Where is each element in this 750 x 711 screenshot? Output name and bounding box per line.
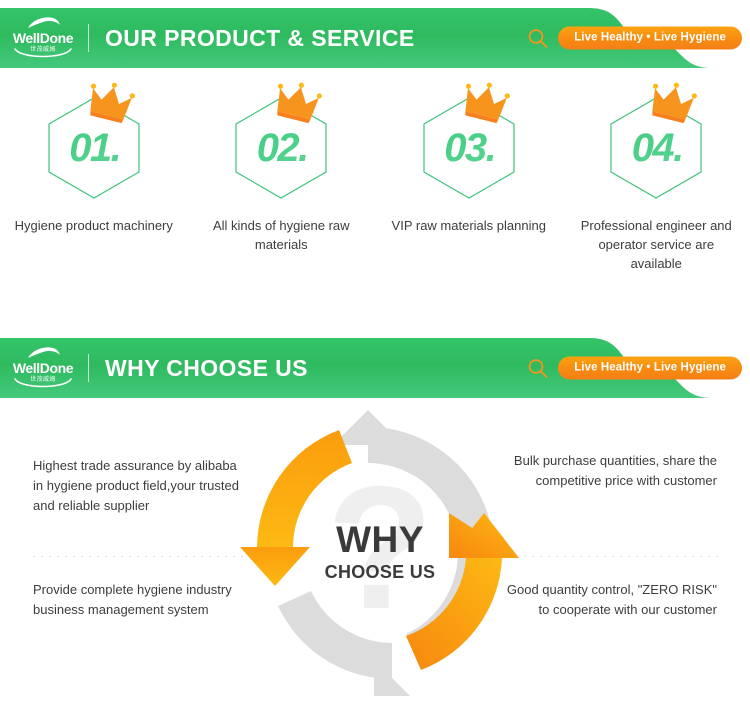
why-headline: WHY (336, 520, 424, 560)
swoosh-icon (27, 346, 61, 360)
swoosh-icon (27, 16, 61, 30)
section-header-why: WellDone 世茂威姆 WHY CHOOSE US Live Healthy… (0, 338, 750, 398)
header-divider (88, 24, 89, 52)
product-card[interactable]: 01. Hygiene product machinery (0, 82, 188, 273)
card-caption: VIP raw materials planning (392, 216, 546, 235)
reason-bottom-left: Provide complete hygiene industry busine… (33, 580, 246, 620)
hexagon-badge: 01. (38, 82, 150, 200)
crown-icon (86, 82, 136, 124)
brand-logo[interactable]: WellDone 世茂威姆 (10, 345, 76, 391)
hexagon-badge: 02. (225, 82, 337, 200)
divider-left (30, 556, 245, 557)
product-card-list: 01. Hygiene product machinery 02. (0, 82, 750, 273)
logo-wordmark: WellDone (13, 31, 73, 46)
section-header-product: WellDone 世茂威姆 OUR PRODUCT & SERVICE Live… (0, 8, 750, 68)
header-tagline-group: Live Healthy • Live Hygiene (527, 357, 742, 380)
tagline-badge: Live Healthy • Live Hygiene (558, 27, 742, 50)
product-card[interactable]: 02. All kinds of hygiene raw materials (188, 82, 376, 273)
section-title: OUR PRODUCT & SERVICE (105, 25, 415, 52)
card-caption: Hygiene product machinery (15, 216, 173, 235)
why-subheadline: CHOOSE US (325, 560, 436, 584)
crown-icon (648, 82, 698, 124)
why-choose-us-body: Highest trade assurance by alibaba in hy… (0, 398, 750, 711)
why-center-label: WHY CHOOSE US (235, 408, 525, 698)
logo-arc-icon (13, 378, 73, 392)
section-title: WHY CHOOSE US (105, 355, 308, 382)
reason-bottom-right: Good quantity control, "ZERO RISK" to co… (504, 580, 717, 620)
logo-wordmark: WellDone (13, 361, 73, 376)
crown-icon (273, 82, 323, 124)
tagline-badge: Live Healthy • Live Hygiene (558, 357, 742, 380)
card-caption: Professional engineer and operator servi… (576, 216, 736, 273)
product-card[interactable]: 04. Professional engineer and operator s… (563, 82, 750, 273)
header-tagline-group: Live Healthy • Live Hygiene (527, 27, 742, 50)
logo-arc-icon (13, 48, 73, 62)
hexagon-badge: 03. (413, 82, 525, 200)
brand-logo[interactable]: WellDone 世茂威姆 (10, 15, 76, 61)
reason-top-right: Bulk purchase quantities, share the comp… (504, 451, 717, 491)
reason-top-left: Highest trade assurance by alibaba in hy… (33, 456, 246, 516)
crown-icon (461, 82, 511, 124)
header-divider (88, 354, 89, 382)
card-caption: All kinds of hygiene raw materials (201, 216, 361, 254)
product-card[interactable]: 03. VIP raw materials planning (375, 82, 563, 273)
circular-arrows-diagram: ? WHY (235, 408, 525, 698)
hexagon-badge: 04. (600, 82, 712, 200)
search-icon[interactable] (527, 357, 549, 379)
divider-right (505, 556, 720, 557)
search-icon[interactable] (527, 27, 549, 49)
